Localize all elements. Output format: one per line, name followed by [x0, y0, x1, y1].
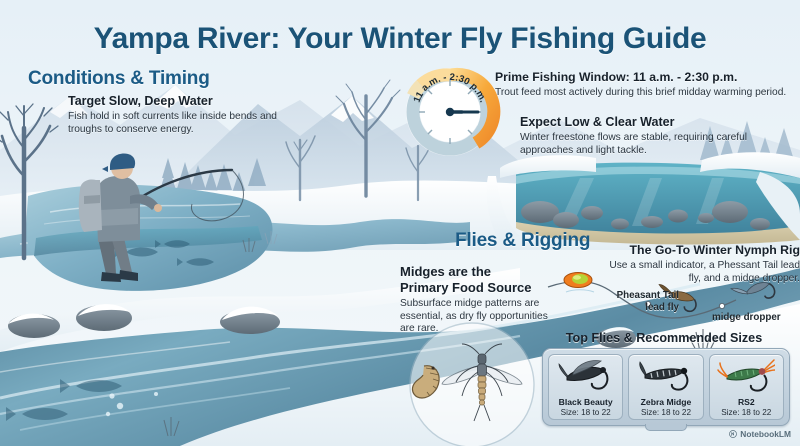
- fly-box: Black Beauty Size: 18 to 22 Zebra Midge …: [542, 348, 790, 426]
- callout-nymph-rig-body: Use a small indicator, a Phessant Tail l…: [605, 260, 800, 286]
- callout-prime-window-heading: Prime Fishing Window: 11 a.m. - 2:30 p.m…: [495, 70, 795, 85]
- fly-name: Zebra Midge: [641, 398, 692, 408]
- page-title: Yampa River: Your Winter Fly Fishing Gui…: [0, 22, 800, 56]
- callout-low-clear-water-body: Winter freestone flows are stable, requi…: [520, 132, 775, 158]
- section-heading-flies: Flies & Rigging: [455, 230, 590, 252]
- fly-cell-black-beauty[interactable]: Black Beauty Size: 18 to 22: [548, 354, 623, 420]
- fly-size: Size: 18 to 22: [641, 408, 691, 417]
- callout-low-clear-water: Expect Low & Clear Water Winter freeston…: [520, 115, 775, 158]
- callout-nymph-rig-heading: The Go-To Winter Nymph Rig: [605, 243, 800, 258]
- knot-dropper: [719, 303, 724, 308]
- callout-prime-window-body: Trout feed most actively during this bri…: [495, 87, 795, 100]
- callout-midges-heading-line1: Midges are the: [400, 264, 560, 280]
- rig-label-lead-fly-line2: lead fly: [601, 302, 679, 314]
- fly-cell-zebra-midge[interactable]: Zebra Midge Size: 18 to 22: [628, 354, 703, 420]
- rig-label-lead-fly-line1: Pheasant Tail: [601, 290, 679, 302]
- fly-name: RS2: [738, 398, 755, 408]
- infographic-poster: 11 a.m. - 2:30 p.m.: [0, 0, 800, 446]
- watermark: NotebookLM: [729, 429, 791, 439]
- notebooklm-icon: [729, 430, 737, 438]
- rs2-fly-icon: [717, 357, 775, 397]
- fly-size: Size: 18 to 22: [721, 408, 771, 417]
- callout-midges: Midges are the Primary Food Source Subsu…: [400, 264, 560, 336]
- callout-nymph-rig: The Go-To Winter Nymph Rig Use a small i…: [605, 243, 800, 286]
- fly-box-title: Top Flies & Recommended Sizes: [530, 331, 798, 345]
- rig-label-lead-fly: Pheasant Tail lead fly: [601, 290, 679, 314]
- rig-label-midge-dropper: midge dropper: [712, 312, 796, 324]
- fly-size: Size: 18 to 22: [561, 408, 611, 417]
- callout-target-water: Target Slow, Deep Water Fish hold in sof…: [68, 94, 283, 137]
- callout-midges-heading-line2: Primary Food Source: [400, 280, 560, 296]
- fly-box-latch: [645, 424, 687, 431]
- callout-target-water-body: Fish hold in soft currents like inside b…: [68, 111, 283, 137]
- black-beauty-fly-icon: [557, 357, 615, 397]
- section-heading-conditions: Conditions & Timing: [28, 68, 210, 90]
- callout-prime-window: Prime Fishing Window: 11 a.m. - 2:30 p.m…: [495, 70, 795, 100]
- fly-cell-rs2[interactable]: RS2 Size: 18 to 22: [709, 354, 784, 420]
- zebra-midge-fly-icon: [637, 357, 695, 397]
- callout-low-clear-water-heading: Expect Low & Clear Water: [520, 115, 775, 130]
- watermark-label: NotebookLM: [740, 429, 791, 439]
- fly-name: Black Beauty: [559, 398, 613, 408]
- strike-indicator: [564, 273, 592, 288]
- callout-target-water-heading: Target Slow, Deep Water: [68, 94, 283, 109]
